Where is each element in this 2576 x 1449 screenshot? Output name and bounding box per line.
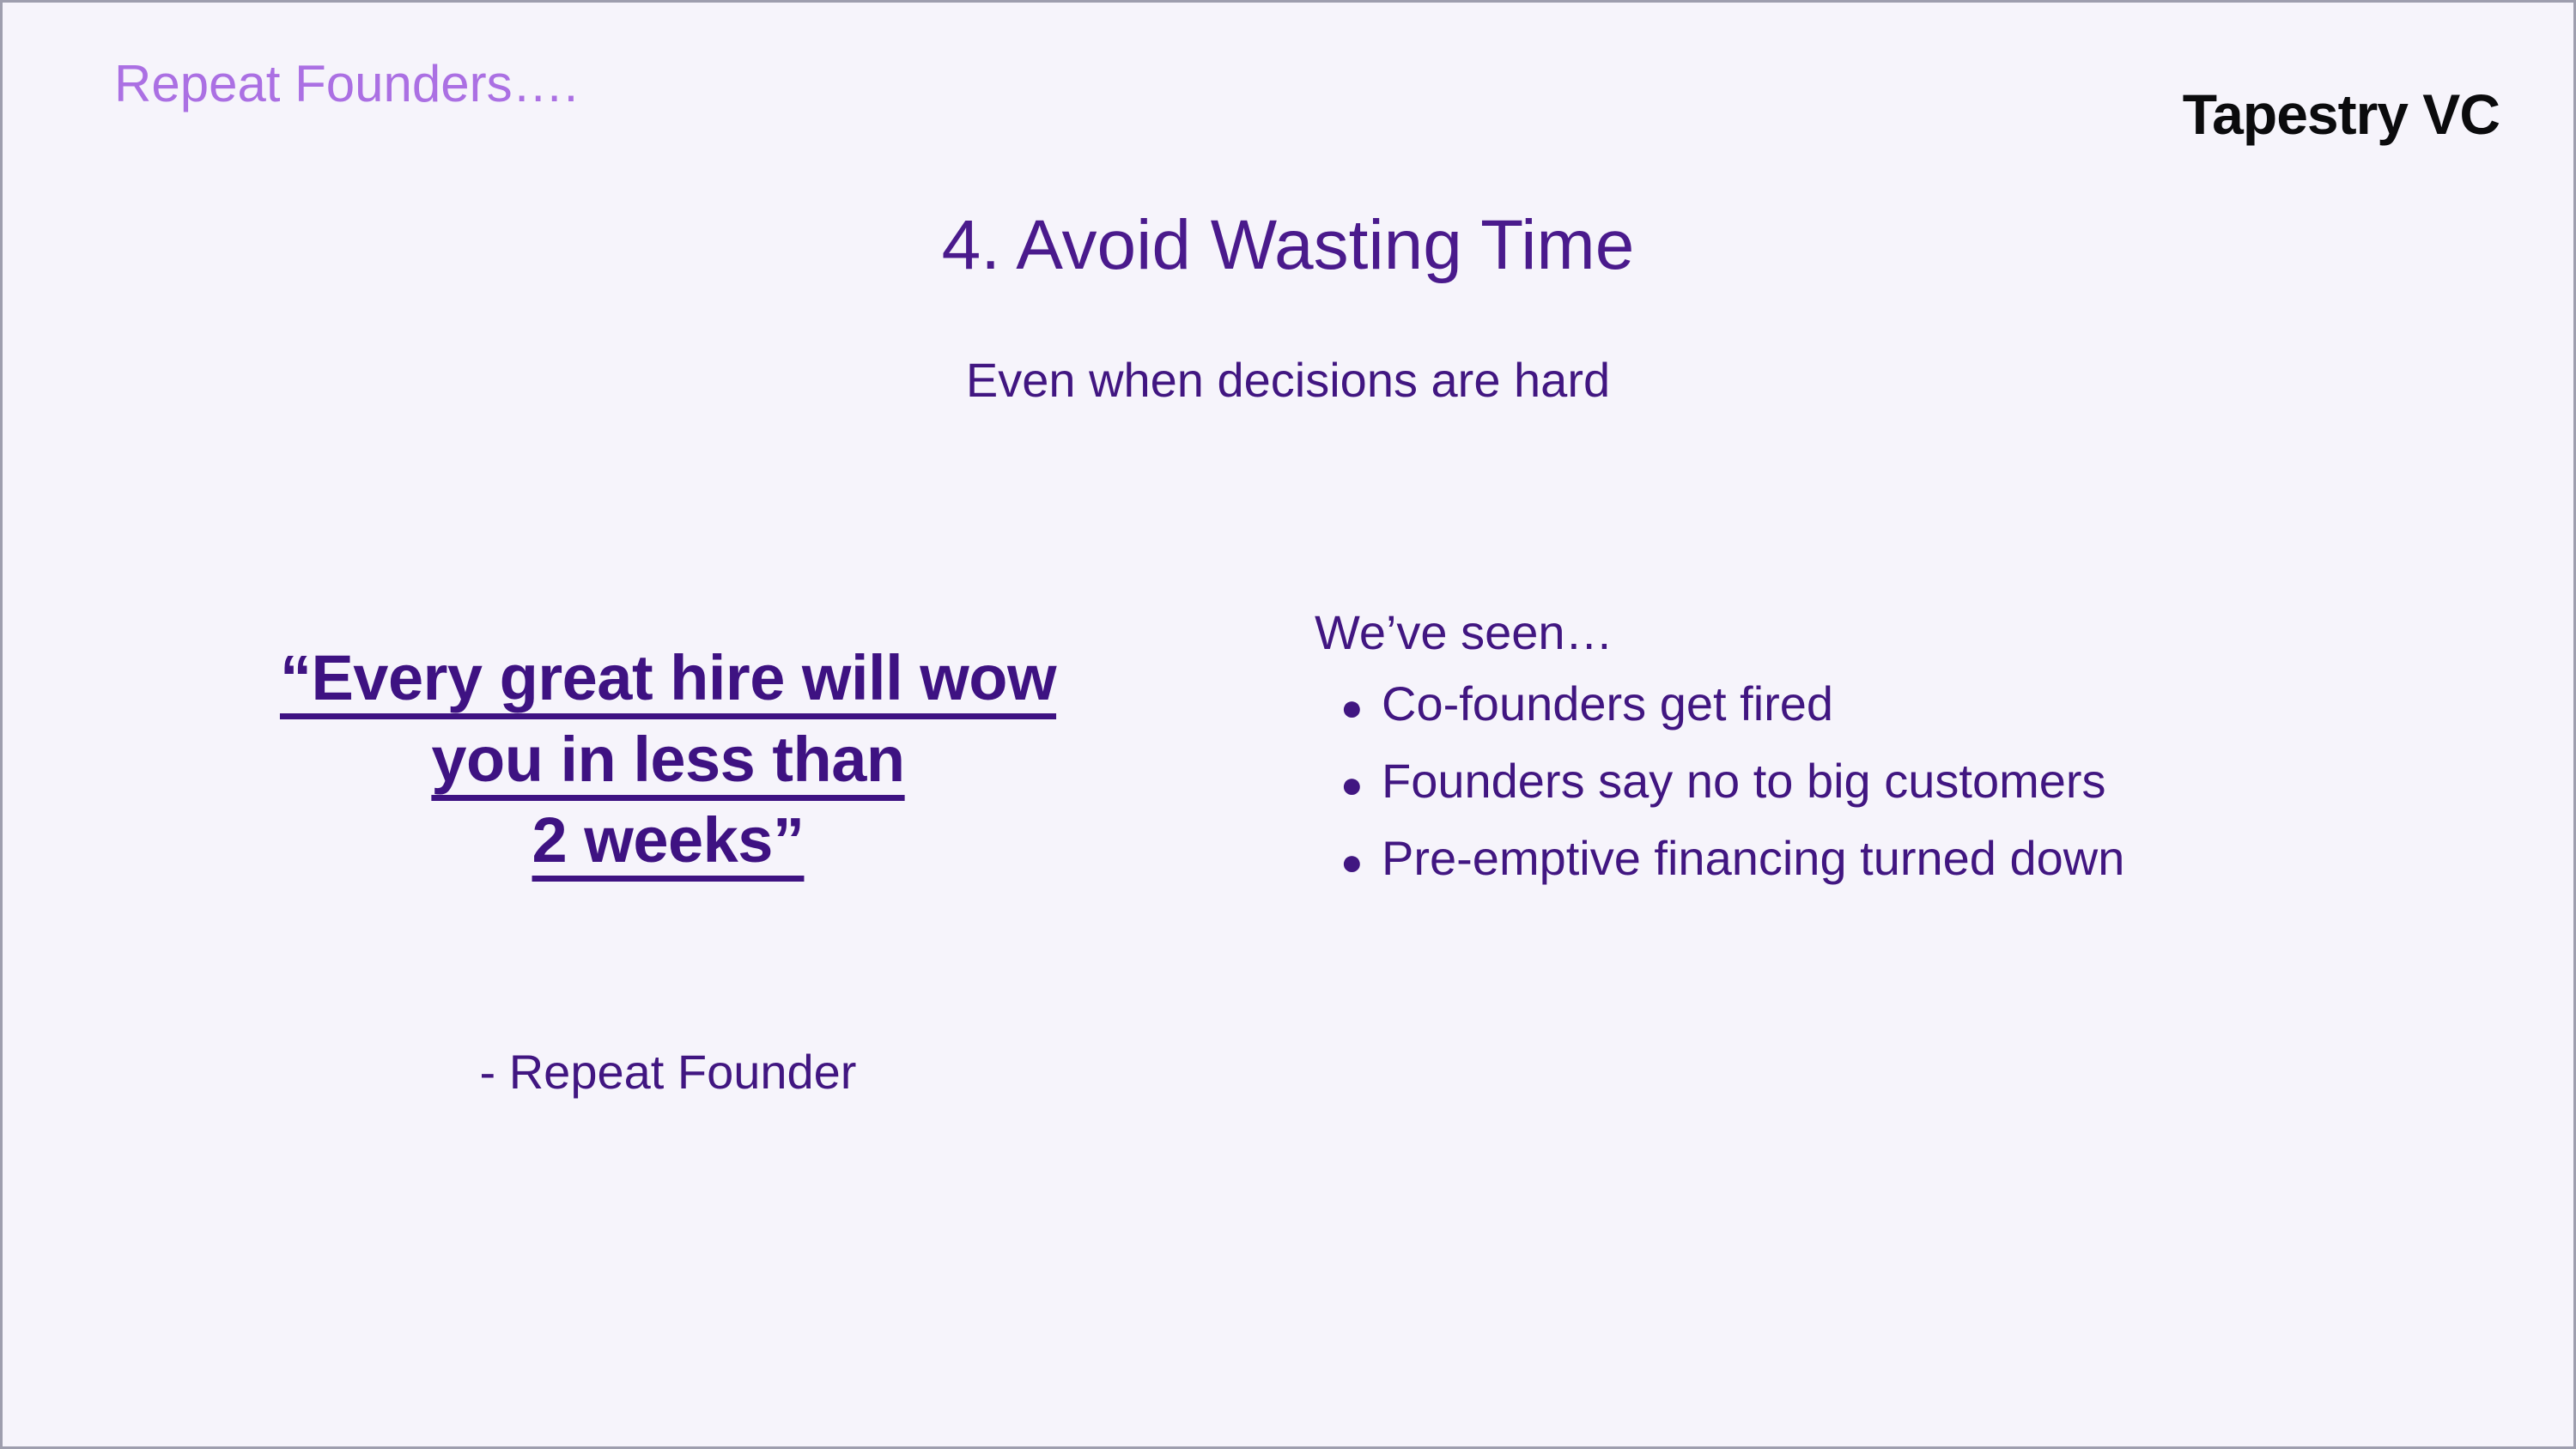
quote-attribution: - Repeat Founder — [97, 1043, 1239, 1100]
quote-line: 2 weeks” — [97, 800, 1239, 882]
slide-eyebrow-label: Repeat Founders…. — [114, 56, 578, 112]
quote-line-text: 2 weeks” — [532, 804, 805, 876]
bullet-point-icon: ● — [1315, 689, 1366, 727]
page-title: 4. Avoid Wasting Time — [3, 206, 2573, 285]
list-item: ● Founders say no to big customers — [1315, 757, 2500, 805]
quote-block: “Every great hire will wow you in less t… — [97, 638, 1239, 882]
bullet-point-icon: ● — [1315, 767, 1366, 804]
list-item-label: Pre-emptive financing turned down — [1366, 834, 2124, 882]
list-item: ● Co-founders get fired — [1315, 680, 2500, 728]
slide-canvas: Repeat Founders…. Tapestry VC 4. Avoid W… — [0, 0, 2576, 1449]
quote-line-text: “Every great hire will wow — [280, 642, 1056, 713]
page-subtitle: Even when decisions are hard — [3, 353, 2573, 408]
examples-block: We’ve seen… ● Co-founders get fired ● Fo… — [1315, 603, 2500, 912]
brand-logo-wordmark: Tapestry VC — [2183, 85, 2500, 144]
quote-line: you in less than — [97, 719, 1239, 801]
quote-line: “Every great hire will wow — [97, 638, 1239, 719]
list-item-label: Founders say no to big customers — [1366, 757, 2106, 805]
bullet-point-icon: ● — [1315, 844, 1366, 882]
examples-list: ● Co-founders get fired ● Founders say n… — [1315, 680, 2500, 882]
list-item: ● Pre-emptive financing turned down — [1315, 834, 2500, 882]
quote-line-text: you in less than — [431, 724, 904, 795]
examples-heading: We’ve seen… — [1315, 603, 2500, 661]
list-item-label: Co-founders get fired — [1366, 680, 1833, 728]
